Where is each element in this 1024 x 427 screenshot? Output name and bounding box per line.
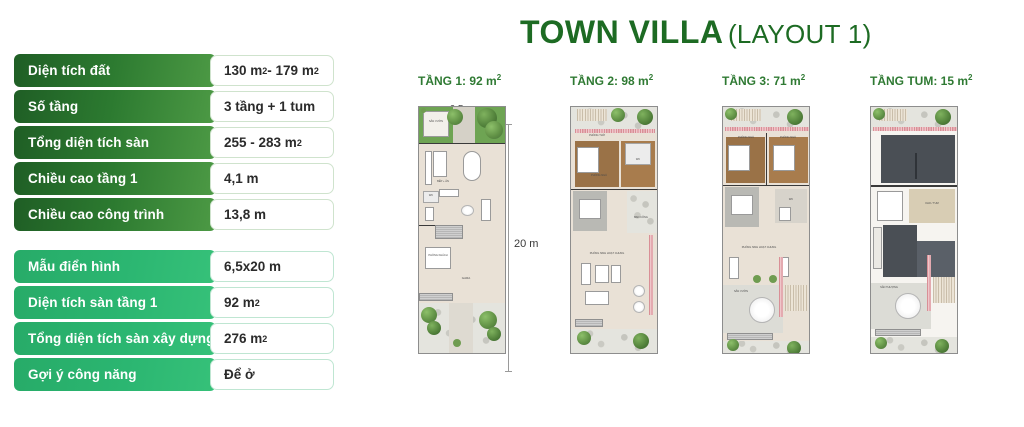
tree-icon: [637, 109, 653, 125]
unit-exponent: 2: [649, 73, 653, 82]
spec-value: 276 m2: [210, 323, 334, 354]
bathroom-fixture: [425, 207, 434, 221]
height-dimension-label: 20 m: [514, 238, 538, 250]
kitchen-unit: [425, 151, 432, 185]
tree-icon: [633, 333, 649, 349]
roof-slab: [917, 241, 955, 277]
tree-icon: [611, 108, 625, 122]
spec-label: Diện tích đất: [14, 54, 216, 87]
room-label: BAN CÔNG: [627, 217, 655, 220]
tree-icon: [935, 339, 949, 353]
sofa: [585, 291, 609, 305]
bed: [773, 145, 795, 171]
dining-table: [463, 151, 481, 181]
room-label: PHÒNG NGỦ: [579, 175, 619, 178]
floor-caption-text: TẦNG 2: 98 m: [570, 74, 649, 88]
tree-icon: [577, 331, 591, 345]
tree-icon: [875, 337, 887, 349]
tree-icon: [447, 109, 463, 125]
room-label: PHÒNG THỜ: [577, 135, 617, 138]
tree-icon: [873, 108, 885, 120]
spec-value: 4,1 m: [210, 163, 334, 194]
floor-caption: TẦNG 2: 98 m2: [556, 74, 658, 88]
spec-value: 6,5x20 m: [210, 251, 334, 282]
armchair: [729, 257, 739, 279]
floor-caption: TẦNG TUM: 15 m2: [856, 74, 972, 88]
tree-icon: [427, 321, 441, 335]
room-shape: [423, 111, 449, 137]
floor-caption-text: TẦNG 1: 92 m: [418, 74, 497, 88]
tv-cabinet: [481, 199, 491, 221]
room-label: WC: [777, 199, 805, 202]
spec-value: 130 m2 - 179 m2: [210, 55, 334, 86]
spec-label: Số tầng: [14, 90, 216, 123]
shrub-icon: [753, 275, 761, 283]
spec-row: Chiều cao tầng 1 4,1 m: [14, 162, 334, 195]
planter-strip: [927, 255, 931, 311]
spec-label: Tổng diện tích sàn xây dựng: [14, 322, 216, 355]
floor-plan-panel-2: TẦNG 2: 98 m2 PHÒNG THỜ PHÒNG NGỦ WC: [556, 74, 658, 354]
spec-label: Chiều cao tầng 1: [14, 162, 216, 195]
spec-row: Diện tích đất 130 m2 - 179 m2: [14, 54, 334, 87]
storage-room: [425, 247, 451, 269]
page-title: TOWN VILLA (LAYOUT 1): [520, 14, 872, 51]
kitchen-counter: [433, 151, 447, 177]
floor-plan-panel-3: TẦNG 3: 71 m2 PHÒNG NGỦ PHÒNG NGỦ: [708, 74, 810, 354]
room-label: PHÒNG NGỦ: [773, 137, 803, 140]
tree-icon: [485, 121, 503, 139]
sofa: [439, 189, 459, 197]
room-label: WC: [423, 195, 439, 198]
spec-row: Số tầng 3 tầng + 1 tum: [14, 90, 334, 123]
page-title-sub: (LAYOUT 1): [728, 19, 872, 49]
floor-plan-drawing-2: PHÒNG THỜ PHÒNG NGỦ WC BAN CÔNG PHÒNG SI…: [570, 106, 658, 354]
coffee-table: [611, 265, 621, 283]
planter-strip: [779, 257, 783, 317]
tree-icon: [787, 109, 803, 125]
spec-row: Tổng diện tích sàn xây dựng 276 m2: [14, 322, 334, 355]
decorative-pattern: [749, 297, 775, 323]
spec-value-text: 92 m: [224, 295, 255, 310]
wall: [571, 189, 658, 190]
floor-caption-text: TẦNG TUM: 15 m: [870, 74, 968, 88]
spec-value: 255 - 283 m2: [210, 127, 334, 158]
stair-hall: [877, 191, 903, 221]
side-table: [633, 285, 645, 297]
height-dimension-line: [508, 124, 509, 372]
tree-icon: [725, 108, 737, 120]
wall: [766, 133, 767, 185]
bed: [577, 147, 599, 173]
spec-row: Mẫu điển hình 6,5x20 m: [14, 250, 334, 283]
spec-row: Gợi ý công năng Để ở: [14, 358, 334, 391]
tree-icon: [487, 327, 501, 341]
unit-exponent: 2: [801, 73, 805, 82]
room-label: SÂN THƯỢNG: [875, 287, 903, 290]
room-label: KHO / TUM: [915, 203, 949, 206]
shrub-icon: [453, 339, 461, 347]
sofa: [595, 265, 609, 283]
driveway-steps: [419, 293, 453, 301]
coffee-table: [461, 205, 474, 216]
spec-label: Mẫu điển hình: [14, 250, 216, 283]
spec-value-text: 4,1 m: [224, 171, 259, 186]
floor-plan-panel-1: TẦNG 1: 92 m2 6,5 m 20 m SÂN VƯỜN: [404, 74, 506, 354]
spec-row: Diện tích sàn tầng 1 92 m2: [14, 286, 334, 319]
plan-wrapper: PHÒNG THỜ PHÒNG NGỦ WC BAN CÔNG PHÒNG SI…: [556, 106, 658, 354]
spec-label: Chiều cao công trình: [14, 198, 216, 231]
page-title-main: TOWN VILLA: [520, 14, 724, 50]
tree-icon: [787, 341, 801, 354]
floor-plan-drawing-3: PHÒNG NGỦ PHÒNG NGỦ WC PHÒNG SINH HOẠT C…: [722, 106, 810, 354]
spec-value-text: 13,8 m: [224, 207, 266, 222]
balcony-area: [627, 191, 657, 233]
plan-wrapper: KHO / TUM SÂN THƯỢNG: [856, 106, 972, 354]
pergola: [577, 109, 607, 121]
spec-label: Diện tích sàn tầng 1: [14, 286, 216, 319]
unit-exponent: 2: [497, 73, 501, 82]
floor-plan-drawing-1: SÂN VƯỜN BẾP + ĂN WC: [418, 106, 506, 354]
roof-ridge: [915, 153, 917, 179]
room-label: PHÒNG KHÁCH: [427, 255, 449, 258]
spec-value-text: 3 tầng + 1 tum: [224, 99, 315, 114]
tum-room: [909, 189, 955, 223]
plan-wrapper: 6,5 m 20 m SÂN VƯỜN BẾP + ĂN: [404, 106, 506, 354]
wall: [871, 185, 957, 187]
roof-slab: [881, 135, 955, 183]
floor-caption: TẦNG 1: 92 m2: [404, 74, 506, 88]
staircase: [731, 195, 753, 215]
floor-plan-panel-tum: TẦNG TUM: 15 m2 KHO / TUM: [856, 74, 972, 354]
spec-value-text: 255 - 283 m: [224, 135, 297, 150]
room-label: PHÒNG SINH HOẠT CHUNG: [737, 247, 781, 250]
spec-label: Gợi ý công năng: [14, 358, 216, 391]
bed: [728, 145, 750, 171]
wall: [723, 185, 810, 186]
pergola: [785, 285, 807, 311]
armchair: [581, 263, 591, 285]
unit-exponent: 2: [968, 73, 972, 82]
room-label: PHÒNG NGỦ: [731, 137, 761, 140]
staircase: [435, 225, 463, 239]
room-label: GARA: [449, 277, 483, 280]
pergola: [933, 277, 955, 303]
spec-value-tail: - 179 m: [267, 63, 314, 78]
wall: [419, 225, 435, 226]
spec-value-text: 276 m: [224, 331, 262, 346]
room-label: SÂN VƯỜN: [425, 121, 447, 124]
room-label: PHÒNG SINH HOẠT CHUNG: [585, 253, 629, 256]
front-walkway: [449, 303, 473, 354]
floor-plan-drawing-tum: KHO / TUM SÂN THƯỢNG: [870, 106, 958, 354]
spec-row: Tổng diện tích sàn 255 - 283 m2: [14, 126, 334, 159]
layout-canvas: Diện tích đất 130 m2 - 179 m2 Số tầng 3 …: [0, 0, 1024, 427]
side-strip: [873, 227, 882, 269]
tree-icon: [727, 339, 739, 351]
shrub-icon: [421, 108, 426, 113]
spec-table-primary: Diện tích đất 130 m2 - 179 m2 Số tầng 3 …: [14, 54, 334, 234]
spec-value: 13,8 m: [210, 199, 334, 230]
spec-value-text: 130 m: [224, 63, 262, 78]
floor-caption: TẦNG 3: 71 m2: [708, 74, 810, 88]
bathroom-fixture: [779, 207, 791, 221]
steps: [575, 319, 603, 327]
steps: [875, 329, 921, 336]
spec-label: Tổng diện tích sàn: [14, 126, 216, 159]
decorative-pattern: [895, 293, 921, 319]
room-label: WC: [623, 159, 653, 162]
spec-value: 92 m2: [210, 287, 334, 318]
spec-value: 3 tầng + 1 tum: [210, 91, 334, 122]
spec-table-secondary: Mẫu điển hình 6,5x20 m Diện tích sàn tần…: [14, 250, 334, 394]
spec-row: Chiều cao công trình 13,8 m: [14, 198, 334, 231]
shrub-icon: [769, 275, 777, 283]
side-table: [633, 301, 645, 313]
staircase: [579, 199, 601, 219]
spec-value-text: 6,5x20 m: [224, 259, 281, 274]
room-label: SÂN VƯỜN: [729, 291, 753, 294]
floor-caption-text: TẦNG 3: 71 m: [722, 74, 801, 88]
tree-icon: [935, 109, 951, 125]
spec-value-text: Để ở: [224, 367, 255, 382]
wall: [419, 143, 506, 144]
room-label: BẾP + ĂN: [429, 181, 457, 184]
planter-strip: [649, 235, 653, 315]
spec-value: Để ở: [210, 359, 334, 390]
roof-slab: [883, 225, 917, 277]
plan-wrapper: PHÒNG NGỦ PHÒNG NGỦ WC PHÒNG SINH HOẠT C…: [708, 106, 810, 354]
